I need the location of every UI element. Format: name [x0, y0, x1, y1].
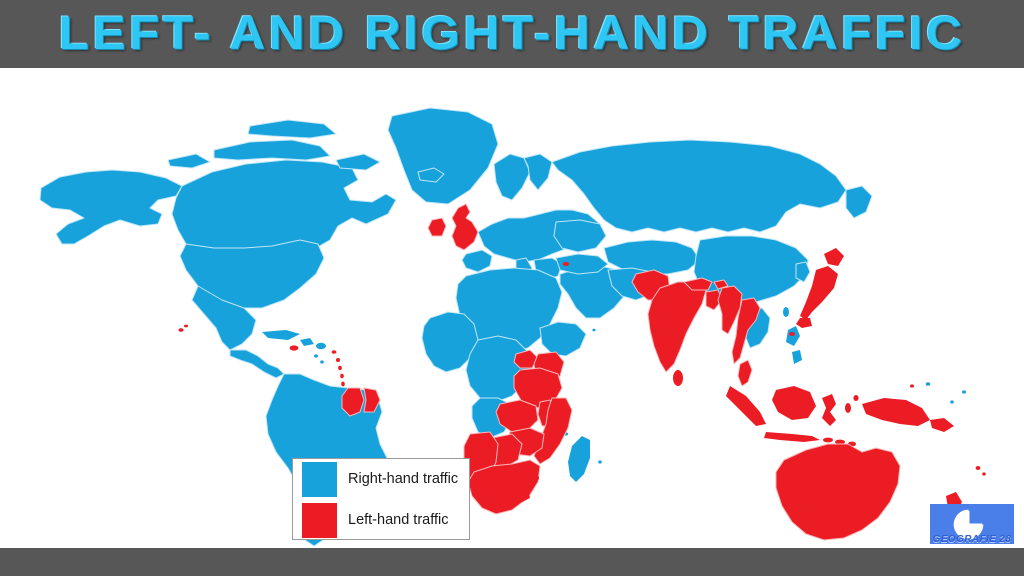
world-map-container: .r { fill:#17a2dc; stroke:#bfe6f7; strok…	[0, 68, 1024, 548]
legend-swatch-left-hand	[302, 503, 337, 538]
slide-root: LEFT- AND RIGHT-HAND TRAFFIC .r { fill:#…	[0, 0, 1024, 576]
legend-item-right-hand: Right-hand traffic	[293, 459, 471, 500]
legend-label-right-hand: Right-hand traffic	[348, 459, 458, 500]
footer-band	[0, 548, 1024, 576]
legend-swatch-right-hand	[302, 462, 337, 497]
legend-label-left-hand: Left-hand traffic	[348, 500, 449, 541]
watermark-logo: GEOGRAFIE 28	[930, 504, 1014, 556]
world-map-svg: .r { fill:#17a2dc; stroke:#bfe6f7; strok…	[0, 68, 1024, 548]
page-title: LEFT- AND RIGHT-HAND TRAFFIC	[0, 0, 1024, 68]
watermark-text: GEOGRAFIE 28	[930, 534, 1014, 545]
legend-item-left-hand: Left-hand traffic	[293, 500, 471, 541]
map-legend: Right-hand traffic Left-hand traffic	[292, 458, 470, 540]
